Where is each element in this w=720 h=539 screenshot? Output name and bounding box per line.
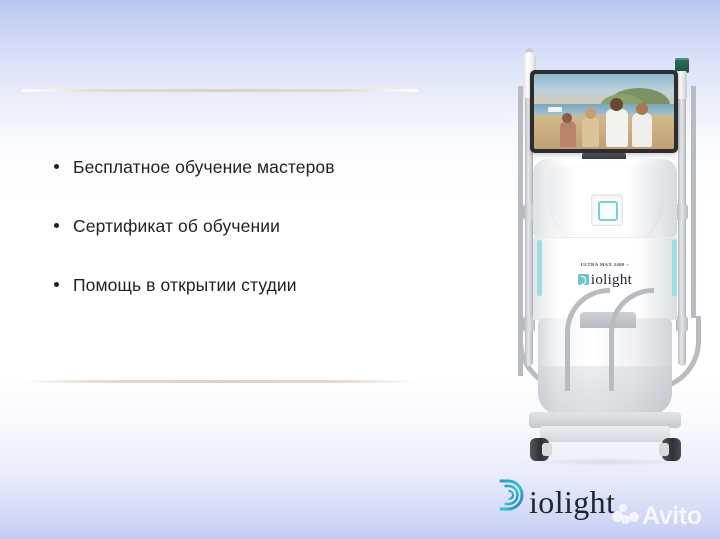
device-monitor xyxy=(530,70,678,153)
laser-device-illustration: ULTRA MAX 2400 + iolight xyxy=(494,26,720,466)
list-item: Помощь в открытии студии xyxy=(50,274,440,296)
bullet-dot-icon xyxy=(54,223,59,228)
screen-boat xyxy=(548,107,562,112)
screen-person xyxy=(606,109,628,147)
device-wheel-hub xyxy=(542,443,552,456)
bullet-list: Бесплатное обучение мастеров Сертификат … xyxy=(50,156,440,296)
divider-bottom xyxy=(22,380,418,383)
device-model-label: ULTRA MAX 2400 + xyxy=(533,262,677,267)
list-item: Бесплатное обучение мастеров xyxy=(50,156,440,178)
device-screen xyxy=(534,74,674,149)
diolight-d-mark-icon xyxy=(495,477,528,513)
screen-person-head xyxy=(585,108,596,119)
list-item-label: Помощь в открытии студии xyxy=(73,275,297,295)
list-item: Сертификат об обучении xyxy=(50,215,440,237)
screen-person xyxy=(560,121,576,147)
device-wheel-hub xyxy=(659,443,669,456)
bullet-dot-icon xyxy=(54,282,59,287)
device-emblem-icon xyxy=(598,201,618,221)
avito-dot xyxy=(629,512,639,522)
screen-person xyxy=(582,117,599,147)
device-brand-label: iolight xyxy=(533,272,677,289)
avito-dot xyxy=(619,504,627,512)
divider-top xyxy=(22,89,418,92)
device-floor-shadow xyxy=(524,458,688,466)
bullet-dot-icon xyxy=(54,164,59,169)
cable-right xyxy=(691,86,696,318)
screen-person-head xyxy=(610,98,623,111)
device-base-mid xyxy=(540,426,670,442)
device-brand-mark-icon xyxy=(578,274,589,285)
screen-sand xyxy=(534,115,674,150)
rail-clip xyxy=(676,204,688,220)
avito-watermark-text: Avito xyxy=(642,503,702,529)
list-item-label: Сертификат об обучении xyxy=(73,216,280,236)
slide-canvas: Бесплатное обучение мастеров Сертификат … xyxy=(0,0,720,539)
device-brand-text: iolight xyxy=(591,272,632,288)
brand-logo: iolight xyxy=(495,477,615,519)
screen-person-head xyxy=(636,103,648,115)
avito-dots-icon xyxy=(612,503,640,529)
screen-person xyxy=(632,113,652,147)
rail-clip xyxy=(676,316,688,332)
avito-watermark: Avito xyxy=(612,503,702,529)
brand-logo-text: iolight xyxy=(529,485,615,519)
screen-person-head xyxy=(562,113,572,123)
list-item-label: Бесплатное обучение мастеров xyxy=(73,157,335,177)
